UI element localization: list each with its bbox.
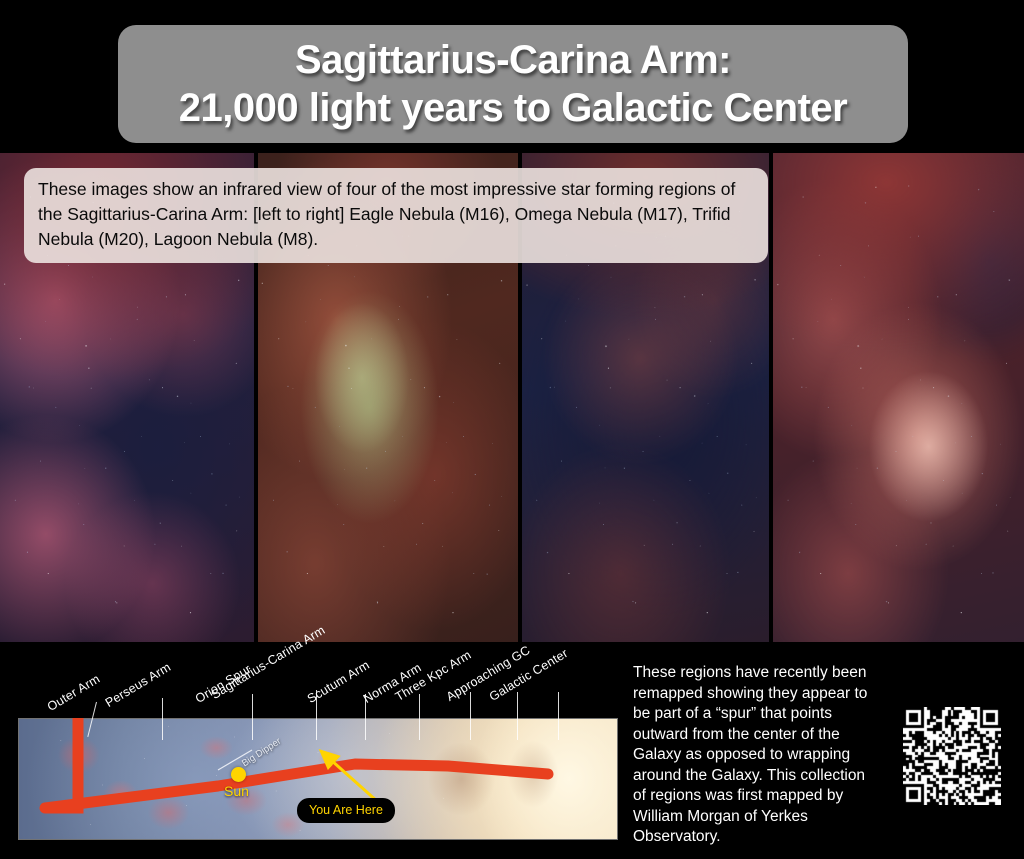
title-bar: Sagittarius-Carina Arm: 21,000 light yea… [118,25,908,143]
bottom-section: Outer Arm Perseus Arm Orion Spur Sagitta… [0,642,1024,859]
qr-code[interactable] [903,707,1001,805]
tick-galactic-center [558,692,559,740]
page-title-line-1: Sagittarius-Carina Arm: [295,36,731,84]
tick-perseus-arm [162,698,163,740]
tick-three-kpc-arm [470,692,471,740]
tick-orion-spur [252,694,253,740]
sun-label: Sun [224,783,249,799]
tick-approaching-gc [517,692,518,740]
qr-code-canvas[interactable] [903,707,1001,805]
infographic-root: Sagittarius-Carina Arm: 21,000 light yea… [0,0,1024,859]
description-paragraph: These regions have recently been remappe… [633,663,881,848]
page-title-line-2: 21,000 light years to Galactic Center [179,84,847,132]
you-are-here-badge: You Are Here [297,798,395,823]
map-label-scutum-arm: Scutum Arm [305,658,372,706]
nebula-panel-lagoon-m8 [773,153,1024,642]
caption-box: These images show an infrared view of fo… [24,168,768,263]
tick-norma-arm [419,694,420,740]
